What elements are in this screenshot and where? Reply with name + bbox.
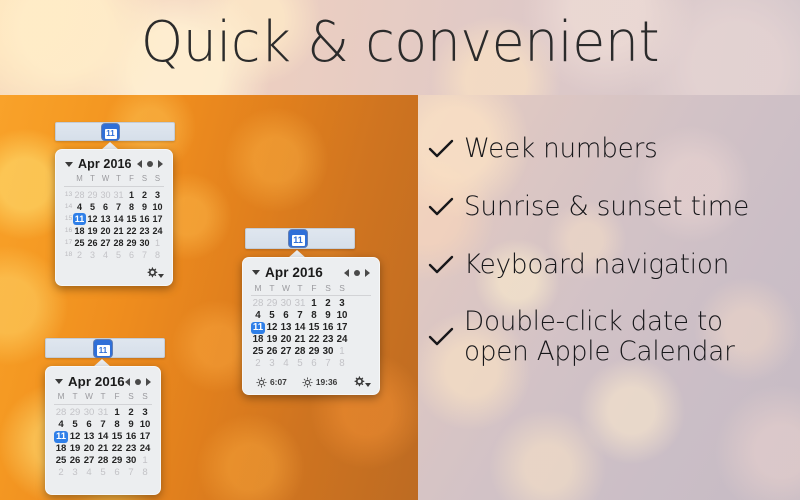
calendar-day[interactable]: 4 — [251, 310, 265, 322]
day-of-week-header: F — [307, 282, 321, 294]
sunrise-time: 6:07 — [270, 377, 287, 387]
calendar-day[interactable]: 5 — [112, 249, 125, 261]
calendar-day[interactable]: 26 — [265, 346, 279, 358]
arrow-right-icon[interactable] — [158, 160, 163, 168]
check-icon — [428, 136, 454, 162]
calendar-day[interactable]: 1 — [110, 407, 124, 419]
feature-label: Sunrise & sunset time — [464, 191, 749, 223]
feature-label: Double-click date toopen Apple Calendar — [464, 307, 735, 367]
calendar-day[interactable]: 16 — [321, 322, 335, 334]
calendar-header: Apr 2016 — [56, 150, 172, 173]
calendar-day-selected[interactable]: 11 — [251, 322, 265, 334]
week-number: 17 — [64, 237, 73, 249]
calendar-day[interactable]: 5 — [96, 467, 110, 479]
calendar-header: Apr 2016 — [46, 367, 160, 391]
calendar-day[interactable]: 5 — [293, 358, 307, 370]
calendar-widget-middle: 11Apr 2016MTWTFSS28293031123456789101112… — [245, 228, 355, 249]
menubar-calendar-icon[interactable]: 11 — [94, 340, 112, 357]
calendar-day[interactable]: 8 — [138, 467, 152, 479]
calendar-day[interactable]: 31 — [112, 189, 125, 201]
calendar-day[interactable]: 3 — [86, 249, 99, 261]
calendar-day[interactable]: 15 — [307, 322, 321, 334]
calendar-icon-day: 11 — [105, 129, 117, 139]
calendar-day[interactable]: 12 — [86, 213, 99, 225]
page-title: Quick & convenient — [16, 10, 784, 75]
day-of-week-header: S — [124, 391, 138, 403]
calendar-day[interactable]: 18 — [73, 225, 86, 237]
menu-bar-strip: 11 — [55, 122, 175, 141]
arrow-right-icon[interactable] — [146, 378, 151, 386]
calendar-week-row: 2345678 — [251, 358, 371, 370]
calendar-day[interactable]: 7 — [321, 358, 335, 370]
calendar-week-row: 28293031123 — [54, 407, 152, 419]
calendar-day[interactable]: 1 — [151, 237, 164, 249]
calendar-month-label: Apr 2016 — [78, 157, 137, 171]
calendar-icon-header — [289, 230, 307, 234]
feature-label-line: Keyboard navigation — [464, 249, 729, 281]
calendar-day[interactable]: 9 — [138, 201, 151, 213]
day-of-week-header: T — [86, 173, 99, 185]
calendar-day[interactable]: 16 — [124, 431, 138, 443]
calendar-day[interactable]: 29 — [68, 407, 82, 419]
calendar-icon-day: 11 — [292, 235, 305, 246]
calendar-day[interactable]: 30 — [279, 298, 293, 310]
calendar-day[interactable]: 22 — [110, 443, 124, 455]
calendar-day[interactable]: 21 — [112, 225, 125, 237]
calendar-day-header-row: MTWTFSS — [64, 173, 164, 185]
feature-list: Week numbersSunrise & sunset timeKeyboar… — [418, 95, 800, 500]
calendar-week-row: 1445678910 — [64, 201, 164, 213]
week-number: 16 — [64, 225, 73, 237]
calendar-day[interactable]: 12 — [265, 322, 279, 334]
calendar-day-selected[interactable]: 11 — [54, 431, 68, 443]
calendar-day[interactable]: 27 — [279, 346, 293, 358]
calendar-day[interactable]: 6 — [110, 467, 124, 479]
calendar-day[interactable]: 5 — [265, 310, 279, 322]
calendar-day[interactable]: 1 — [125, 189, 138, 201]
triangle-down-icon[interactable] — [55, 377, 64, 386]
calendar-day-header-row: MTWTFSS — [251, 282, 371, 294]
feature-item-week-numbers: Week numbers — [428, 133, 790, 165]
calendar-day[interactable]: 30 — [124, 455, 138, 467]
calendar-day[interactable]: 18 — [54, 443, 68, 455]
calendar-day[interactable]: 16 — [138, 213, 151, 225]
calendar-day[interactable]: 7 — [124, 467, 138, 479]
calendar-icon-day: 11 — [97, 345, 110, 356]
day-of-week-header: T — [68, 391, 82, 403]
feature-label: Week numbers — [464, 133, 658, 165]
calendar-day[interactable]: 3 — [138, 407, 152, 419]
day-of-week-header: S — [321, 282, 335, 294]
calendar-day[interactable]: 25 — [54, 455, 68, 467]
calendar-day[interactable]: 19 — [68, 443, 82, 455]
calendar-footer — [56, 265, 172, 285]
calendar-day-header-row: MTWTFSS — [54, 391, 152, 403]
calendar-day[interactable]: 10 — [335, 310, 349, 322]
calendar-week-row: 18192021222324 — [251, 334, 371, 346]
feature-label-line: Week numbers — [464, 133, 658, 165]
calendar-week-row: 2526272829301 — [54, 455, 152, 467]
calendar-day[interactable]: 3 — [335, 298, 349, 310]
calendar-day-selected[interactable]: 11 — [73, 213, 86, 225]
calendar-footer: 6:0719:36 — [243, 374, 379, 394]
calendar-nav — [137, 160, 163, 168]
calendar-month-label: Apr 2016 — [265, 265, 344, 280]
sunset-icon — [302, 377, 313, 388]
day-of-week-header: W — [279, 282, 293, 294]
day-of-week-header: S — [335, 282, 349, 294]
calendar-day[interactable]: 13 — [82, 431, 96, 443]
calendar-day[interactable]: 3 — [265, 358, 279, 370]
calendar-day[interactable]: 23 — [321, 334, 335, 346]
calendar-day[interactable]: 31 — [96, 407, 110, 419]
calendar-header-divider — [64, 186, 164, 187]
calendar-day[interactable]: 23 — [138, 225, 151, 237]
calendar-day[interactable]: 6 — [125, 249, 138, 261]
calendar-day[interactable]: 28 — [54, 407, 68, 419]
calendar-day[interactable]: 4 — [99, 249, 112, 261]
calendar-day[interactable]: 29 — [265, 298, 279, 310]
calendar-day[interactable]: 7 — [112, 201, 125, 213]
calendar-day[interactable]: 2 — [251, 358, 265, 370]
day-of-week-header: T — [265, 282, 279, 294]
calendar-day[interactable]: 15 — [125, 213, 138, 225]
calendar-day[interactable]: 13 — [279, 322, 293, 334]
calendar-header-divider — [54, 404, 152, 405]
arrow-left-icon[interactable] — [344, 269, 349, 277]
calendar-day[interactable]: 3 — [68, 467, 82, 479]
calendar-day[interactable]: 22 — [307, 334, 321, 346]
calendar-day[interactable]: 3 — [151, 189, 164, 201]
calendar-day[interactable]: 17 — [138, 431, 152, 443]
calendar-day[interactable]: 2 — [321, 298, 335, 310]
calendar-day[interactable]: 29 — [110, 455, 124, 467]
arrow-left-icon[interactable] — [125, 378, 130, 386]
dot-icon[interactable] — [135, 379, 141, 385]
week-number: 13 — [64, 189, 73, 201]
calendar-week-row: 11121314151617 — [251, 322, 371, 334]
calendar-day[interactable]: 31 — [293, 298, 307, 310]
menu-bar-strip: 11 — [45, 338, 165, 358]
day-of-week-header: M — [54, 391, 68, 403]
calendar-day[interactable]: 30 — [138, 237, 151, 249]
day-of-week-header: T — [293, 282, 307, 294]
calendar-day[interactable]: 24 — [138, 443, 152, 455]
calendar-day[interactable]: 17 — [335, 322, 349, 334]
calendar-week-row: 45678910 — [251, 310, 371, 322]
day-of-week-header: F — [110, 391, 124, 403]
dot-icon[interactable] — [147, 161, 153, 167]
calendar-month-label: Apr 2016 — [68, 374, 125, 389]
calendar-day[interactable]: 4 — [54, 419, 68, 431]
calendar-grid: MTWTFSS132829303112314456789101511121314… — [56, 173, 172, 265]
calendar-day[interactable]: 6 — [307, 358, 321, 370]
calendar-day[interactable]: 1 — [138, 455, 152, 467]
calendar-day[interactable]: 20 — [99, 225, 112, 237]
check-icon — [428, 252, 454, 278]
feature-label-line: open Apple Calendar — [464, 337, 735, 367]
calendar-day[interactable]: 17 — [151, 213, 164, 225]
gear-icon[interactable] — [145, 266, 164, 280]
calendar-day[interactable]: 1 — [335, 346, 349, 358]
week-number-header-spacer — [64, 173, 73, 185]
day-of-week-header: F — [125, 173, 138, 185]
menubar-calendar-icon[interactable]: 11 — [102, 124, 119, 140]
calendar-day[interactable]: 30 — [321, 346, 335, 358]
calendar-day[interactable]: 5 — [86, 201, 99, 213]
day-of-week-header: S — [138, 173, 151, 185]
calendar-week-row: 1618192021222324 — [64, 225, 164, 237]
calendar-nav — [344, 269, 370, 277]
calendar-day[interactable]: 25 — [251, 346, 265, 358]
menu-bar-strip: 11 — [245, 228, 355, 249]
calendar-widget-bottom-left: 11Apr 2016MTWTFSS28293031123456789101112… — [45, 338, 165, 358]
calendar-day[interactable]: 20 — [82, 443, 96, 455]
calendar-footer-spacer — [46, 483, 160, 494]
calendar-week-row: 11121314151617 — [54, 431, 152, 443]
day-of-week-header: T — [96, 391, 110, 403]
calendar-day[interactable]: 14 — [293, 322, 307, 334]
calendar-day[interactable]: 2 — [54, 467, 68, 479]
calendar-day[interactable]: 21 — [293, 334, 307, 346]
gear-icon[interactable] — [352, 375, 371, 389]
calendar-day[interactable]: 29 — [307, 346, 321, 358]
calendar-day[interactable]: 14 — [96, 431, 110, 443]
calendar-day[interactable]: 23 — [124, 443, 138, 455]
calendar-day[interactable]: 19 — [265, 334, 279, 346]
calendar-day[interactable]: 13 — [99, 213, 112, 225]
day-of-week-header: T — [112, 173, 125, 185]
calendar-grid: MTWTFSS282930311234567891011121314151617… — [243, 282, 379, 374]
calendar-week-row: 18192021222324 — [54, 443, 152, 455]
calendar-day[interactable]: 5 — [68, 419, 82, 431]
arrow-right-icon[interactable] — [365, 269, 370, 277]
feature-item-double-click-date: Double-click date toopen Apple Calendar — [428, 307, 790, 367]
calendar-day[interactable]: 2 — [73, 249, 86, 261]
calendar-day[interactable]: 14 — [112, 213, 125, 225]
calendar-day[interactable]: 29 — [86, 189, 99, 201]
calendar-day[interactable]: 29 — [125, 237, 138, 249]
calendar-day[interactable]: 2 — [138, 189, 151, 201]
feature-item-sunrise-sunset: Sunrise & sunset time — [428, 191, 790, 223]
calendar-day[interactable]: 25 — [73, 237, 86, 249]
calendar-popover-top-left: Apr 2016MTWTFSS1328293031123144567891015… — [55, 149, 173, 286]
calendar-day[interactable]: 27 — [82, 455, 96, 467]
feature-label-line: Sunrise & sunset time — [464, 191, 749, 223]
dot-icon[interactable] — [354, 270, 360, 276]
calendar-day[interactable]: 10 — [138, 419, 152, 431]
check-icon — [428, 324, 454, 350]
calendar-day[interactable]: 12 — [68, 431, 82, 443]
calendar-day[interactable]: 20 — [279, 334, 293, 346]
calendar-day[interactable]: 7 — [96, 419, 110, 431]
calendar-day[interactable]: 27 — [99, 237, 112, 249]
sunset-readout: 19:36 — [302, 377, 338, 388]
calendar-day[interactable]: 28 — [251, 298, 265, 310]
sunrise-icon — [256, 377, 267, 388]
calendar-popover-bottom-left: Apr 2016MTWTFSS2829303112345678910111213… — [45, 366, 161, 495]
triangle-down-icon[interactable] — [65, 160, 74, 169]
day-of-week-header: W — [82, 391, 96, 403]
calendar-day[interactable]: 10 — [151, 201, 164, 213]
calendar-day[interactable]: 7 — [138, 249, 151, 261]
day-of-week-header: M — [73, 173, 86, 185]
calendar-week-row: 172526272829301 — [64, 237, 164, 249]
calendar-icon-header — [94, 340, 112, 344]
calendar-day[interactable]: 19 — [86, 225, 99, 237]
calendar-day[interactable]: 2 — [124, 407, 138, 419]
calendar-week-row: 2526272829301 — [251, 346, 371, 358]
calendar-day[interactable]: 8 — [335, 358, 349, 370]
day-of-week-header: S — [151, 173, 164, 185]
calendar-day[interactable]: 9 — [124, 419, 138, 431]
feature-label: Keyboard navigation — [464, 249, 729, 281]
sunset-time: 19:36 — [316, 377, 338, 387]
calendar-day[interactable]: 6 — [82, 419, 96, 431]
calendar-day[interactable]: 24 — [151, 225, 164, 237]
calendar-nav — [125, 378, 151, 386]
calendar-day[interactable]: 6 — [99, 201, 112, 213]
calendar-day[interactable]: 8 — [125, 201, 138, 213]
calendar-week-row: 182345678 — [64, 249, 164, 261]
calendar-day[interactable]: 9 — [321, 310, 335, 322]
day-of-week-header: W — [99, 173, 112, 185]
sunrise-readout: 6:07 — [256, 377, 287, 388]
week-number: 15 — [64, 213, 73, 225]
calendar-week-row: 28293031123 — [251, 298, 371, 310]
calendar-day[interactable]: 4 — [73, 201, 86, 213]
week-number: 14 — [64, 201, 73, 213]
calendar-day[interactable]: 18 — [251, 334, 265, 346]
calendar-day[interactable]: 22 — [125, 225, 138, 237]
calendar-week-row: 45678910 — [54, 419, 152, 431]
calendar-header: Apr 2016 — [243, 258, 379, 282]
calendar-week-row: 2345678 — [54, 467, 152, 479]
calendar-day[interactable]: 6 — [279, 310, 293, 322]
feature-label-line: Double-click date to — [464, 307, 735, 337]
calendar-header-divider — [251, 295, 371, 296]
calendar-day[interactable]: 26 — [86, 237, 99, 249]
calendar-day[interactable]: 1 — [307, 298, 321, 310]
calendar-icon-header — [102, 124, 119, 128]
arrow-left-icon[interactable] — [137, 160, 142, 168]
calendar-day[interactable]: 28 — [112, 237, 125, 249]
calendar-day[interactable]: 8 — [151, 249, 164, 261]
calendar-grid: MTWTFSS282930311234567891011121314151617… — [46, 391, 160, 483]
header-banner: Quick & convenient — [0, 0, 800, 95]
calendar-day[interactable]: 8 — [110, 419, 124, 431]
calendar-day[interactable]: 24 — [335, 334, 349, 346]
calendar-day[interactable]: 30 — [82, 407, 96, 419]
calendar-widget-top-left: 11Apr 2016MTWTFSS13282930311231445678910… — [55, 122, 175, 141]
day-of-week-header: S — [138, 391, 152, 403]
calendar-week-row: 1328293031123 — [64, 189, 164, 201]
triangle-down-icon[interactable] — [252, 268, 261, 277]
check-icon — [428, 194, 454, 220]
menubar-calendar-icon[interactable]: 11 — [289, 230, 307, 247]
calendar-day[interactable]: 28 — [293, 346, 307, 358]
calendar-day[interactable]: 15 — [110, 431, 124, 443]
calendar-week-row: 1511121314151617 — [64, 213, 164, 225]
day-of-week-header: M — [251, 282, 265, 294]
calendar-day[interactable]: 21 — [96, 443, 110, 455]
calendar-day[interactable]: 8 — [307, 310, 321, 322]
calendar-day[interactable]: 30 — [99, 189, 112, 201]
calendar-day[interactable]: 4 — [279, 358, 293, 370]
week-number: 18 — [64, 249, 73, 261]
calendar-day[interactable]: 26 — [68, 455, 82, 467]
calendar-day[interactable]: 7 — [293, 310, 307, 322]
calendar-day[interactable]: 28 — [73, 189, 86, 201]
feature-item-keyboard-navigation: Keyboard navigation — [428, 249, 790, 281]
calendar-day[interactable]: 4 — [82, 467, 96, 479]
calendar-popover-middle: Apr 2016MTWTFSS2829303112345678910111213… — [242, 257, 380, 395]
calendar-day[interactable]: 28 — [96, 455, 110, 467]
